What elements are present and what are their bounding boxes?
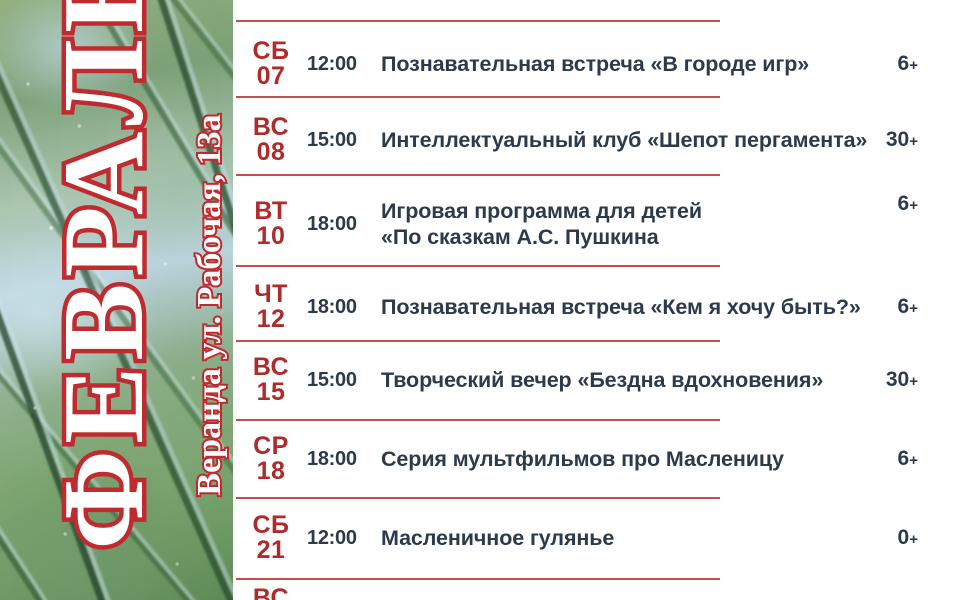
schedule-row[interactable]: СБ 21 12:00 Масленичное гулянье 0+ <box>233 508 960 568</box>
row-title-line-1: Познавательная встреча «В городе игр» <box>381 51 868 77</box>
row-age-value: 6 <box>898 52 910 75</box>
row-age-plus: + <box>909 57 918 74</box>
schedule-row[interactable]: ВС 15 15:00 Творческий вечер «Бездна вдо… <box>233 350 960 410</box>
row-separator <box>236 96 720 98</box>
row-age-value: 6 <box>898 192 910 215</box>
row-age-plus: + <box>909 452 918 469</box>
row-title-line-1: Познавательная встреча «Кем я хочу быть?… <box>381 294 868 320</box>
row-title-line-2: «По сказкам А.С. Пушкина <box>381 224 868 250</box>
row-date: СБ 21 <box>243 513 299 564</box>
row-dow: СР <box>243 434 299 460</box>
row-date: ВТ 10 <box>243 199 299 250</box>
row-time: 15:00 <box>299 129 371 152</box>
row-title: Серия мультфильмов про Масленицу <box>371 446 868 472</box>
row-title: Игровая программа для детей «По сказкам … <box>371 198 868 250</box>
row-title: Познавательная встреча «Кем я хочу быть?… <box>371 294 868 320</box>
row-age-plus: + <box>909 133 918 150</box>
row-dow: ВС <box>243 115 299 141</box>
poster-root: ФЕВРАЛЬ Веранда ул. Рабочая, 13а 05 <box>0 0 960 600</box>
schedule-row[interactable]: ВС 08 15:00 Интеллектуальный клуб «Шепот… <box>233 110 960 170</box>
row-age-rating: 6+ <box>868 52 960 76</box>
row-title: Познавательная встреча «В городе игр» <box>371 51 868 77</box>
row-title: Масленичное гулянье <box>371 525 868 551</box>
row-age-plus: + <box>909 373 918 390</box>
row-age-rating: 6+ <box>868 447 960 471</box>
row-date: ВС 08 <box>243 115 299 166</box>
row-date: ЧТ 12 <box>243 282 299 333</box>
row-separator <box>236 419 720 421</box>
row-age-rating: 0+ <box>868 526 960 550</box>
schedule-row[interactable]: ВТ 10 18:00 Игровая программа для детей … <box>233 188 960 260</box>
row-title-line-1: Серия мультфильмов про Масленицу <box>381 446 868 472</box>
row-title-line-1: Игровая программа для детей <box>381 198 868 224</box>
row-separator <box>236 20 720 22</box>
row-date: СР 18 <box>243 434 299 485</box>
row-title-line-1: Интеллектуальный клуб «Шепот пергамента» <box>381 127 868 153</box>
row-title-line-1: Масленичное гулянье <box>381 525 868 551</box>
row-time: 12:00 <box>299 527 371 550</box>
row-date: ВС <box>243 586 299 600</box>
row-age-rating: 6+ <box>868 188 960 216</box>
row-day: 07 <box>243 64 299 90</box>
schedule-table: 05 СБ 07 12:00 Познавательная встреча «В… <box>233 0 960 600</box>
row-age-rating: 30+ <box>868 368 960 392</box>
row-dow: ЧТ <box>243 282 299 308</box>
row-day: 08 <box>243 140 299 166</box>
row-separator <box>236 497 720 499</box>
row-separator <box>236 578 720 580</box>
row-day: 12 <box>243 307 299 333</box>
row-age-value: 0 <box>898 526 910 549</box>
row-separator <box>236 174 720 176</box>
row-dow: ВС <box>243 355 299 381</box>
photo-soft-overlay <box>0 0 233 600</box>
row-separator <box>236 265 720 267</box>
row-time: 18:00 <box>299 213 371 236</box>
row-age-value: 6 <box>898 295 910 318</box>
row-time: 18:00 <box>299 296 371 319</box>
background-photo-panel <box>0 0 233 600</box>
row-dow: СБ <box>243 513 299 539</box>
row-title-line-1: Творческий вечер «Бездна вдохновения» <box>381 367 868 393</box>
row-title: Творческий вечер «Бездна вдохновения» <box>371 367 868 393</box>
row-age-value: 30 <box>886 368 909 391</box>
row-title: Интеллектуальный клуб «Шепот пергамента» <box>371 127 868 153</box>
row-age-value: 6 <box>898 447 910 470</box>
row-age-plus: + <box>909 531 918 548</box>
schedule-row[interactable]: ВС <box>233 586 960 600</box>
schedule-row[interactable]: ЧТ 12 18:00 Познавательная встреча «Кем … <box>233 278 960 336</box>
row-day: 18 <box>243 459 299 485</box>
row-dow: ВС <box>243 586 299 600</box>
row-dow: ВТ <box>243 199 299 225</box>
row-dow: СБ <box>243 39 299 65</box>
row-time: 12:00 <box>299 53 371 76</box>
row-date: СБ 07 <box>243 39 299 90</box>
schedule-row[interactable]: СР 18 18:00 Серия мультфильмов про Масле… <box>233 430 960 488</box>
row-age-plus: + <box>909 197 918 214</box>
row-time: 15:00 <box>299 369 371 392</box>
row-age-rating: 6+ <box>868 295 960 319</box>
row-day: 10 <box>243 224 299 250</box>
row-age-rating: 30+ <box>868 128 960 152</box>
row-age-value: 30 <box>886 128 909 151</box>
row-age-plus: + <box>909 300 918 317</box>
row-separator <box>236 340 720 342</box>
schedule-row[interactable]: СБ 07 12:00 Познавательная встреча «В го… <box>233 34 960 94</box>
row-day: 15 <box>243 380 299 406</box>
row-day: 21 <box>243 538 299 564</box>
row-time: 18:00 <box>299 448 371 471</box>
row-date: ВС 15 <box>243 355 299 406</box>
